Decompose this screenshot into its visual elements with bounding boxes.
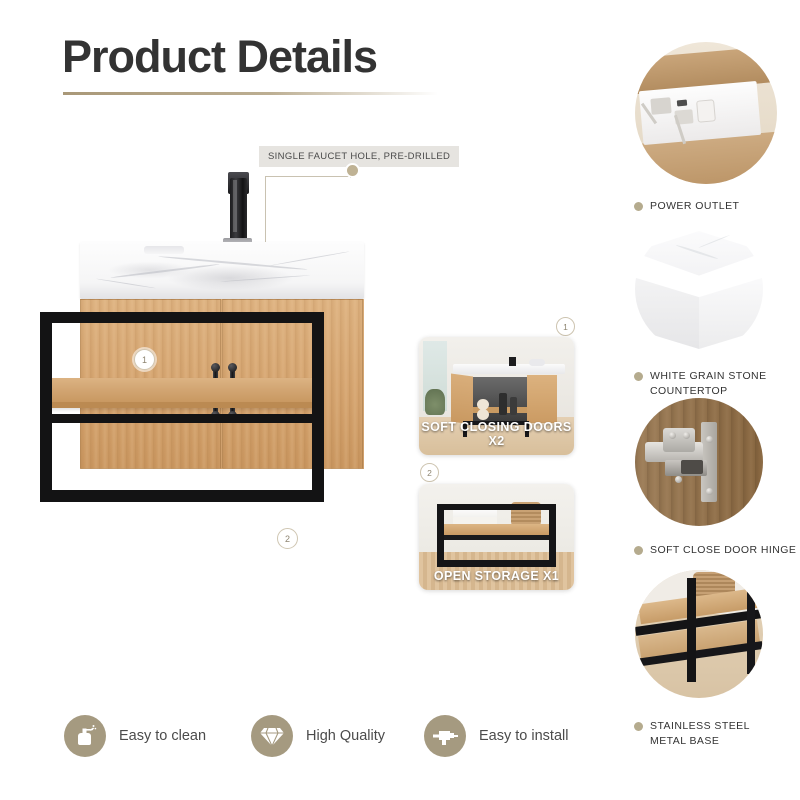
vessel-bowl xyxy=(529,359,545,366)
label-power-outlet: POWER OUTLET xyxy=(650,199,739,213)
outlet-socket xyxy=(696,99,716,122)
inset-number-1: 1 xyxy=(556,317,575,336)
spray-bottle-icon xyxy=(64,715,106,757)
product-badge-2: 2 xyxy=(277,528,298,549)
door-hinge-photo xyxy=(635,398,763,526)
open-storage-shelf-edge xyxy=(48,402,316,408)
hinge-screw xyxy=(669,432,676,439)
bullet-hinge xyxy=(634,546,643,555)
vanity-product-image xyxy=(40,150,400,670)
stone-countertop xyxy=(80,242,364,299)
shelf-support-rail xyxy=(444,535,549,540)
label-metal-base-line2: METAL BASE xyxy=(650,734,719,748)
bullet-metal-base xyxy=(634,722,643,731)
frame-bottom xyxy=(437,560,556,567)
metal-post-back xyxy=(747,590,755,674)
bottle xyxy=(499,393,507,415)
frame-right-post xyxy=(549,504,556,566)
open-door-right xyxy=(527,375,557,423)
sink-basin xyxy=(144,246,184,254)
feature-easy-to-install: Easy to install xyxy=(424,715,568,757)
title-underline xyxy=(63,92,438,95)
wood-shelf-board xyxy=(441,524,553,535)
label-countertop-line2: COUNTERTOP xyxy=(650,384,728,398)
open-door-left xyxy=(451,373,473,424)
metal-base-photo xyxy=(635,570,763,698)
bottle xyxy=(510,397,517,415)
metal-frame-top-rail xyxy=(40,312,324,323)
label-countertop-line1: WHITE GRAIN STONE xyxy=(650,369,767,383)
metal-frame-bottom-rail xyxy=(40,490,324,502)
faucet xyxy=(509,357,516,366)
door-handle-knob xyxy=(228,363,237,372)
feature-label-easy-to-clean: Easy to clean xyxy=(119,728,206,744)
metal-frame-left-post xyxy=(40,312,52,502)
frame-top xyxy=(437,504,556,510)
frame-left-post xyxy=(437,504,444,566)
door-handle-knob xyxy=(211,363,220,372)
feature-label-high-quality: High Quality xyxy=(306,728,385,744)
feature-easy-to-clean: Easy to clean xyxy=(64,715,206,757)
power-outlet-photo xyxy=(635,42,777,184)
product-badge-1: 1 xyxy=(134,349,155,370)
inset-caption-1: SOFT CLOSING DOORS X2 xyxy=(419,420,574,448)
metal-post-front xyxy=(687,578,696,682)
hinge-screw xyxy=(706,436,713,443)
inset-caption-2: OPEN STORAGE X1 xyxy=(419,569,574,583)
plug xyxy=(650,97,671,115)
usb-port xyxy=(677,100,687,107)
faucet-highlight xyxy=(233,180,237,232)
inset-number-2: 2 xyxy=(420,463,439,482)
bullet-countertop xyxy=(634,372,643,381)
drill-icon xyxy=(424,715,466,757)
infographic-canvas: Product Details SINGLE FAUCET HOLE, PRE-… xyxy=(0,0,800,800)
metal-frame-right-post xyxy=(312,312,324,502)
hinge-cup xyxy=(663,428,695,452)
countertop-front-face xyxy=(635,277,699,349)
scene-plant xyxy=(425,389,445,415)
inset-card-soft-closing-doors: SOFT CLOSING DOORS X2 xyxy=(419,337,574,455)
hinge-damper xyxy=(681,460,703,474)
rolled-towel xyxy=(477,409,489,420)
diamond-icon xyxy=(251,715,293,757)
feature-high-quality: High Quality xyxy=(251,715,385,757)
bullet-power-outlet xyxy=(634,202,643,211)
label-hinge: SOFT CLOSE DOOR HINGE xyxy=(650,543,796,557)
label-metal-base-line1: STAINLESS STEEL xyxy=(650,719,750,733)
stone-countertop-corner-photo xyxy=(635,225,763,353)
hinge-screw xyxy=(675,476,682,483)
inset-card-open-storage: OPEN STORAGE X1 xyxy=(419,484,574,590)
page-title: Product Details xyxy=(62,34,377,79)
feature-label-easy-to-install: Easy to install xyxy=(479,728,568,744)
hinge-screw xyxy=(706,488,713,495)
metal-frame-mid-rail xyxy=(40,414,324,423)
hinge-screw xyxy=(683,432,690,439)
countertop-side-face xyxy=(699,277,763,349)
